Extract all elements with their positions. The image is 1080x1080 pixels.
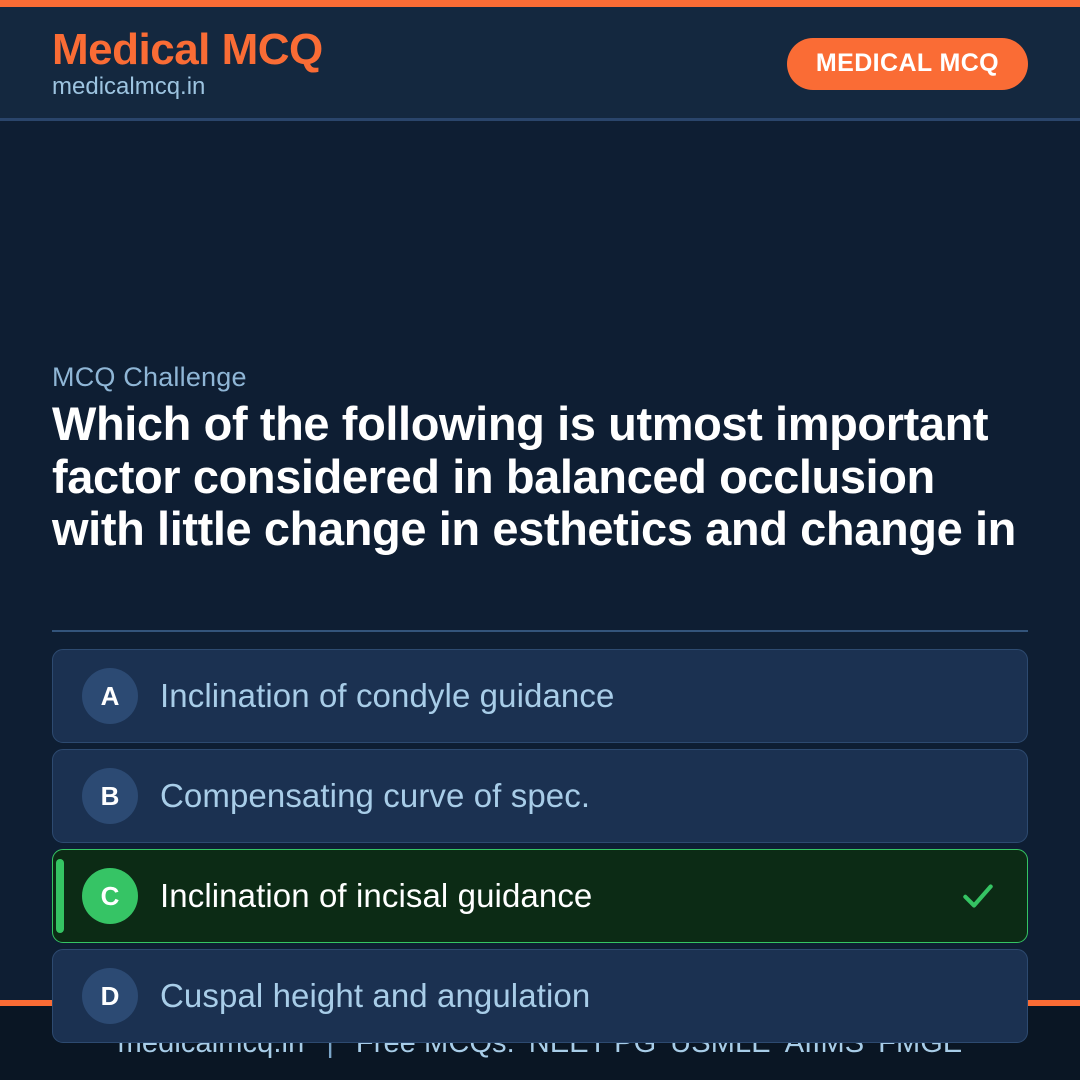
question-text: Which of the following is utmost importa… (52, 398, 1037, 556)
options-list: A Inclination of condyle guidance B Comp… (52, 649, 1028, 1043)
brand-title: Medical MCQ (52, 27, 323, 73)
option-d[interactable]: D Cuspal height and angulation (52, 949, 1028, 1043)
option-label: Cuspal height and angulation (160, 978, 590, 1014)
option-c[interactable]: C Inclination of incisal guidance (52, 849, 1028, 943)
brand: Medical MCQ medicalmcq.in (52, 27, 323, 100)
option-b[interactable]: B Compensating curve of spec. (52, 749, 1028, 843)
top-accent-bar (0, 0, 1080, 7)
brand-badge: MEDICAL MCQ (787, 38, 1028, 90)
correct-accent-bar (56, 859, 64, 933)
option-letter-badge: C (82, 868, 138, 924)
mcq-card: Medical MCQ medicalmcq.in MEDICAL MCQ MC… (0, 0, 1080, 1080)
question-kicker: MCQ Challenge (52, 364, 247, 391)
header: Medical MCQ medicalmcq.in MEDICAL MCQ (0, 7, 1080, 121)
option-letter-badge: D (82, 968, 138, 1024)
question-divider (52, 630, 1028, 632)
brand-subtitle: medicalmcq.in (52, 74, 323, 100)
option-label: Inclination of incisal guidance (160, 878, 592, 914)
option-a[interactable]: A Inclination of condyle guidance (52, 649, 1028, 743)
option-label: Compensating curve of spec. (160, 778, 590, 814)
option-letter-badge: B (82, 768, 138, 824)
main-content: MCQ Challenge Which of the following is … (0, 121, 1080, 1000)
check-icon (959, 877, 997, 915)
option-label: Inclination of condyle guidance (160, 678, 614, 714)
option-letter-badge: A (82, 668, 138, 724)
